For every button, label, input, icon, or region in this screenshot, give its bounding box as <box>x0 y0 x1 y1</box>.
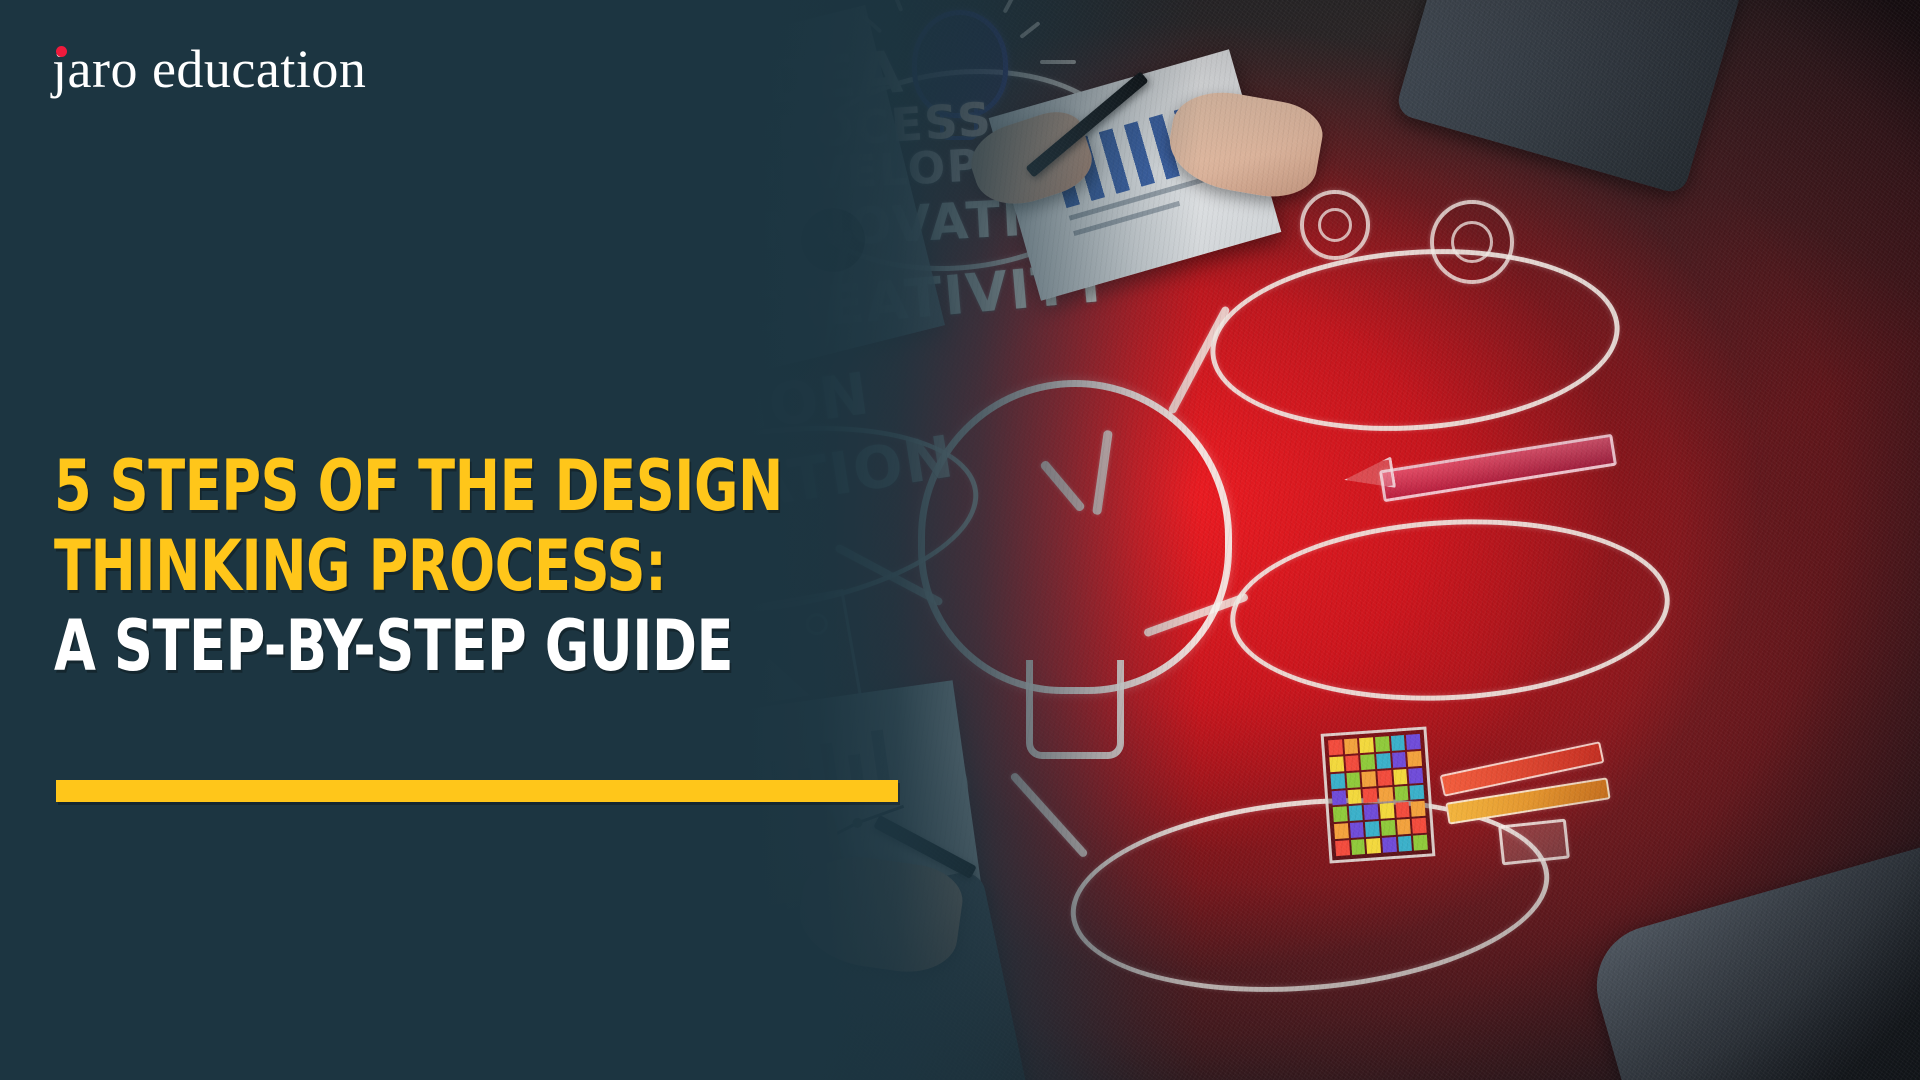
bulb-ray-icon <box>1003 0 1018 14</box>
bulb-ray-icon <box>891 0 904 12</box>
development-bubble <box>1226 509 1675 712</box>
innovation-bulb-neck-icon <box>1026 660 1124 759</box>
eraser-icon <box>1498 819 1570 866</box>
creativity-connector <box>1009 771 1089 858</box>
brand-logo[interactable]: jaro education <box>52 42 366 96</box>
pencil-icon <box>1379 434 1617 503</box>
logo-text: jaro education <box>52 39 366 99</box>
headline-line-1: 5 STEPS OF THE DESIGN <box>54 446 828 526</box>
page-title: 5 STEPS OF THE DESIGN THINKING PROCESS: … <box>54 446 954 686</box>
headline-line-2: THINKING PROCESS: <box>54 526 828 606</box>
logo-dot-icon <box>56 46 67 57</box>
banner: IDEA PROCESS DEVELOPMENT INNOVATION CREA… <box>0 0 1920 1080</box>
color-palette-icon <box>1321 726 1436 863</box>
person-right-sleeve <box>1583 829 1920 1080</box>
headline-underline <box>56 780 898 802</box>
headline-line-3: A STEP-BY-STEP GUIDE <box>54 606 828 686</box>
